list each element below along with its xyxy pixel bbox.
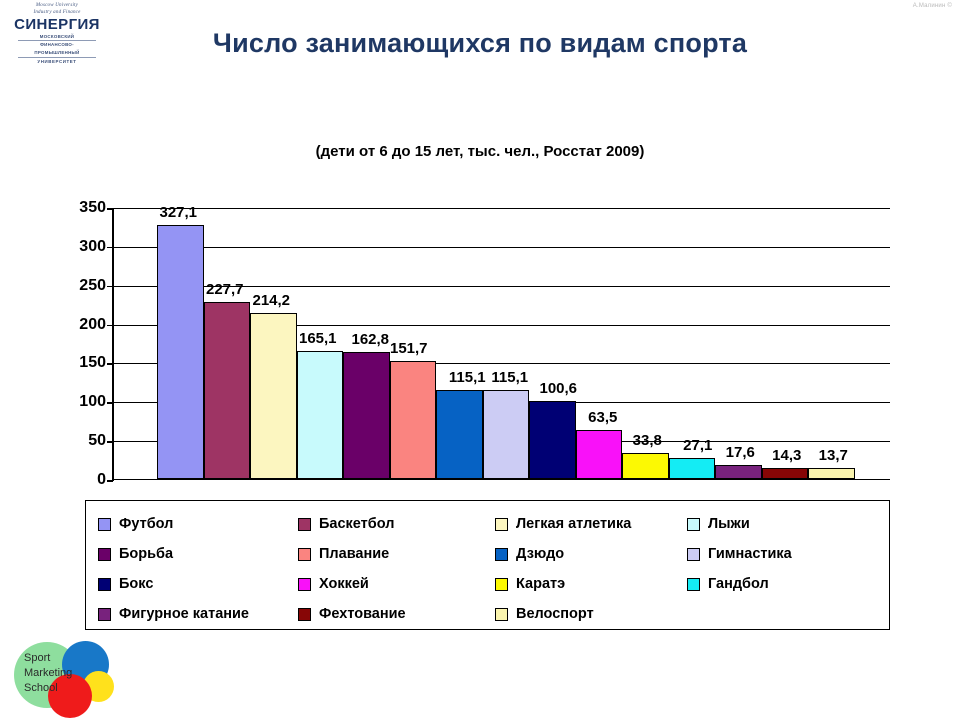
sms-logo-line3: School xyxy=(24,681,72,696)
bar-12 xyxy=(669,458,716,479)
legend-swatch-icon xyxy=(298,548,311,561)
legend-item[interactable]: Гандбол xyxy=(687,569,887,599)
bar-series: 327,1227,7214,2165,1162,8151,7115,1115,1… xyxy=(112,208,890,480)
legend-swatch-icon xyxy=(98,578,111,591)
bar-15 xyxy=(808,468,855,479)
logo-crest-latin-line2: Industry and Finance xyxy=(14,9,100,16)
bar-7 xyxy=(436,390,483,479)
legend-item-label: Баскетбол xyxy=(319,516,394,532)
legend-item-label: Гимнастика xyxy=(708,546,792,562)
legend-empty-cell xyxy=(687,599,887,629)
legend-item[interactable]: Легкая атлетика xyxy=(495,509,687,539)
legend-item[interactable]: Лыжи xyxy=(687,509,887,539)
legend-item[interactable]: Фехтование xyxy=(298,599,495,629)
legend-item-label: Фехтование xyxy=(319,606,406,622)
legend-item-label: Фигурное катание xyxy=(119,606,249,622)
bar-14 xyxy=(762,468,809,479)
legend-item[interactable]: Дзюдо xyxy=(495,539,687,569)
legend-item-label: Велоспорт xyxy=(516,606,594,622)
legend-swatch-icon xyxy=(495,608,508,621)
legend-item[interactable]: Велоспорт xyxy=(495,599,687,629)
y-axis-tick xyxy=(107,480,113,482)
y-axis-tick-label: 100 xyxy=(79,393,106,411)
sport-marketing-school-logo: Sport Marketing School xyxy=(6,638,131,716)
bar-value-label: 17,6 xyxy=(726,444,755,461)
bar-13 xyxy=(715,465,762,479)
legend-item-label: Футбол xyxy=(119,516,173,532)
bar-value-label: 13,7 xyxy=(819,447,848,464)
bar-value-label: 327,1 xyxy=(159,204,197,221)
legend-item-label: Лыжи xyxy=(708,516,750,532)
bar-value-label: 162,8 xyxy=(351,331,389,348)
y-axis-tick-label: 250 xyxy=(79,277,106,295)
bar-value-label: 165,1 xyxy=(299,330,337,347)
y-axis-tick-label: 50 xyxy=(88,432,106,450)
bar-value-label: 151,7 xyxy=(390,340,428,357)
y-axis-tick-label: 0 xyxy=(97,471,106,489)
bar-value-label: 63,5 xyxy=(588,409,617,426)
bar-value-label: 14,3 xyxy=(772,447,801,464)
bar-1 xyxy=(157,225,204,479)
bar-10 xyxy=(576,430,623,479)
legend-grid: ФутболБаскетболЛегкая атлетикаЛыжиБорьба… xyxy=(86,501,889,629)
legend-item[interactable]: Баскетбол xyxy=(298,509,495,539)
legend-item[interactable]: Хоккей xyxy=(298,569,495,599)
bar-11 xyxy=(622,453,669,479)
bar-4 xyxy=(297,351,344,479)
bar-value-label: 214,2 xyxy=(252,292,290,309)
bar-2 xyxy=(204,302,251,479)
logo-subtitle-university: УНИВЕРСИТЕТ xyxy=(14,58,100,66)
bar-value-label: 115,1 xyxy=(491,369,528,386)
bar-value-label: 33,8 xyxy=(633,432,662,449)
legend-swatch-icon xyxy=(98,608,111,621)
legend-item[interactable]: Футбол xyxy=(98,509,298,539)
legend-swatch-icon xyxy=(98,518,111,531)
legend-swatch-icon xyxy=(687,548,700,561)
bar-5 xyxy=(343,352,390,479)
y-axis-tick-label: 300 xyxy=(79,238,106,256)
legend-swatch-icon xyxy=(495,518,508,531)
legend-swatch-icon xyxy=(298,578,311,591)
bar-value-label: 227,7 xyxy=(206,281,244,298)
chart-subtitle: (дети от 6 до 15 лет, тыс. чел., Росстат… xyxy=(0,143,960,160)
legend-item-label: Бокс xyxy=(119,576,153,592)
legend-item-label: Легкая атлетика xyxy=(516,516,631,532)
y-axis-tick-label: 350 xyxy=(79,199,106,217)
legend-swatch-icon xyxy=(687,518,700,531)
logo-crest-latin-line1: Moscow University xyxy=(14,2,100,9)
legend-item-label: Каратэ xyxy=(516,576,565,592)
y-axis-tick-label: 150 xyxy=(79,354,106,372)
sms-logo-text: Sport Marketing School xyxy=(24,651,72,696)
bar-8 xyxy=(483,390,530,479)
legend-swatch-icon xyxy=(98,548,111,561)
bar-value-label: 115,1 xyxy=(449,369,486,386)
y-axis-tick-labels: 050100150200250300350 xyxy=(40,198,106,490)
legend-item-label: Борьба xyxy=(119,546,173,562)
legend-swatch-icon xyxy=(495,578,508,591)
legend-item[interactable]: Фигурное катание xyxy=(98,599,298,629)
y-axis-tick-label: 200 xyxy=(79,316,106,334)
legend-item-label: Хоккей xyxy=(319,576,369,592)
legend-swatch-icon xyxy=(495,548,508,561)
legend-swatch-icon xyxy=(298,608,311,621)
legend-swatch-icon xyxy=(298,518,311,531)
sms-logo-line1: Sport xyxy=(24,651,72,666)
legend-item-label: Дзюдо xyxy=(516,546,564,562)
legend-item[interactable]: Плавание xyxy=(298,539,495,569)
sms-logo-line2: Marketing xyxy=(24,666,72,681)
legend-item-label: Плавание xyxy=(319,546,389,562)
legend-item[interactable]: Гимнастика xyxy=(687,539,887,569)
copyright-notice: А.Малинин © xyxy=(913,3,952,9)
bar-9 xyxy=(529,401,576,479)
chart-legend: ФутболБаскетболЛегкая атлетикаЛыжиБорьба… xyxy=(85,500,890,630)
page-title: Число занимающихся по видам спорта xyxy=(0,28,960,59)
bar-value-label: 100,6 xyxy=(539,380,577,397)
legend-swatch-icon xyxy=(687,578,700,591)
legend-item[interactable]: Борьба xyxy=(98,539,298,569)
bar-3 xyxy=(250,313,297,479)
legend-item-label: Гандбол xyxy=(708,576,769,592)
legend-item[interactable]: Каратэ xyxy=(495,569,687,599)
bar-value-label: 27,1 xyxy=(683,437,712,454)
legend-item[interactable]: Бокс xyxy=(98,569,298,599)
bar-6 xyxy=(390,361,437,479)
